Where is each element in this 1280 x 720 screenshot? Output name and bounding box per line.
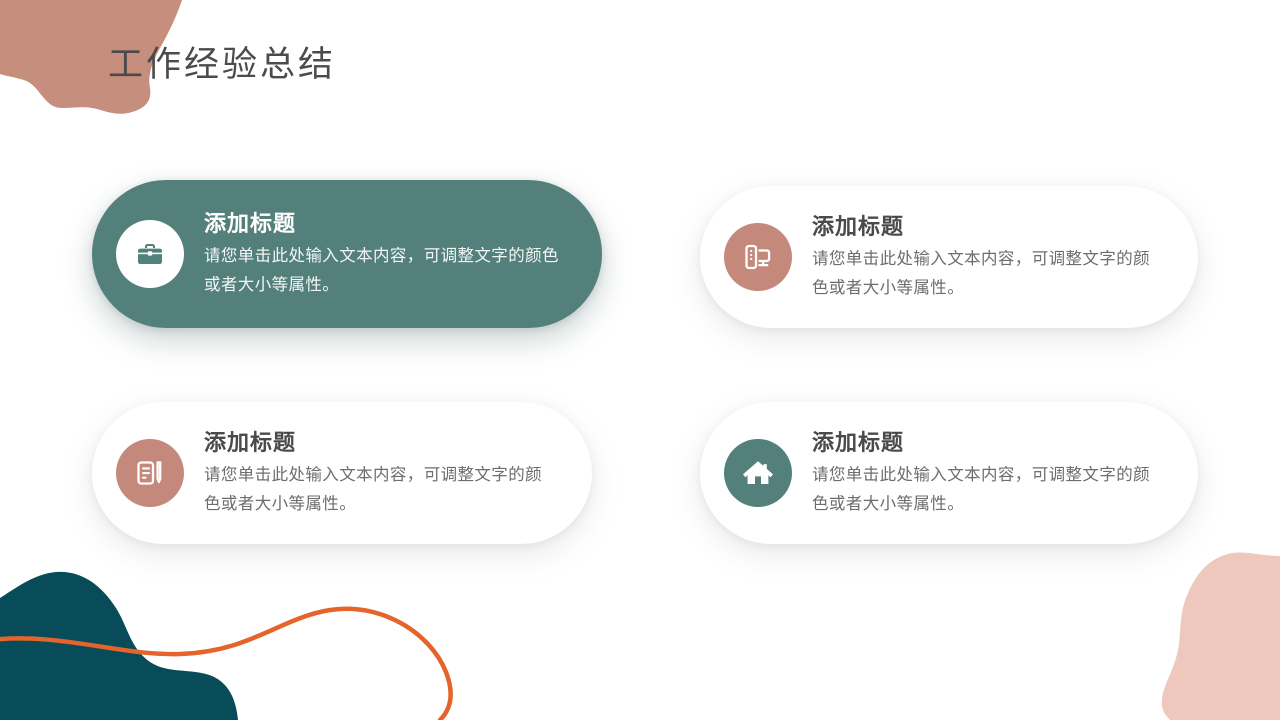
card-description: 请您单击此处输入文本内容，可调整文字的颜色或者大小等属性。 <box>812 461 1164 518</box>
card-title: 添加标题 <box>204 209 568 239</box>
card-description: 请您单击此处输入文本内容，可调整文字的颜色或者大小等属性。 <box>204 461 558 518</box>
info-card-3[interactable]: 添加标题 请您单击此处输入文本内容，可调整文字的颜色或者大小等属性。 <box>92 402 592 544</box>
info-card-2[interactable]: 添加标题 请您单击此处输入文本内容，可调整文字的颜色或者大小等属性。 <box>700 186 1198 328</box>
card-description: 请您单击此处输入文本内容，可调整文字的颜色或者大小等属性。 <box>812 245 1164 302</box>
home-icon <box>724 439 792 507</box>
card-title: 添加标题 <box>204 428 558 458</box>
info-card-4[interactable]: 添加标题 请您单击此处输入文本内容，可调整文字的颜色或者大小等属性。 <box>700 402 1198 544</box>
document-pencil-icon <box>116 439 184 507</box>
card-text-block: 添加标题 请您单击此处输入文本内容，可调整文字的颜色或者大小等属性。 <box>196 428 558 518</box>
info-card-1[interactable]: 添加标题 请您单击此处输入文本内容，可调整文字的颜色或者大小等属性。 <box>92 180 602 328</box>
card-title: 添加标题 <box>812 212 1164 242</box>
card-title: 添加标题 <box>812 428 1164 458</box>
page-title: 工作经验总结 <box>108 36 336 87</box>
cards-container: 添加标题 请您单击此处输入文本内容，可调整文字的颜色或者大小等属性。 添加标题 … <box>0 0 1280 720</box>
desktop-computer-icon <box>724 223 792 291</box>
card-description: 请您单击此处输入文本内容，可调整文字的颜色或者大小等属性。 <box>204 242 568 299</box>
card-text-block: 添加标题 请您单击此处输入文本内容，可调整文字的颜色或者大小等属性。 <box>196 209 568 299</box>
card-text-block: 添加标题 请您单击此处输入文本内容，可调整文字的颜色或者大小等属性。 <box>804 212 1164 302</box>
card-text-block: 添加标题 请您单击此处输入文本内容，可调整文字的颜色或者大小等属性。 <box>804 428 1164 518</box>
briefcase-icon <box>116 220 184 288</box>
